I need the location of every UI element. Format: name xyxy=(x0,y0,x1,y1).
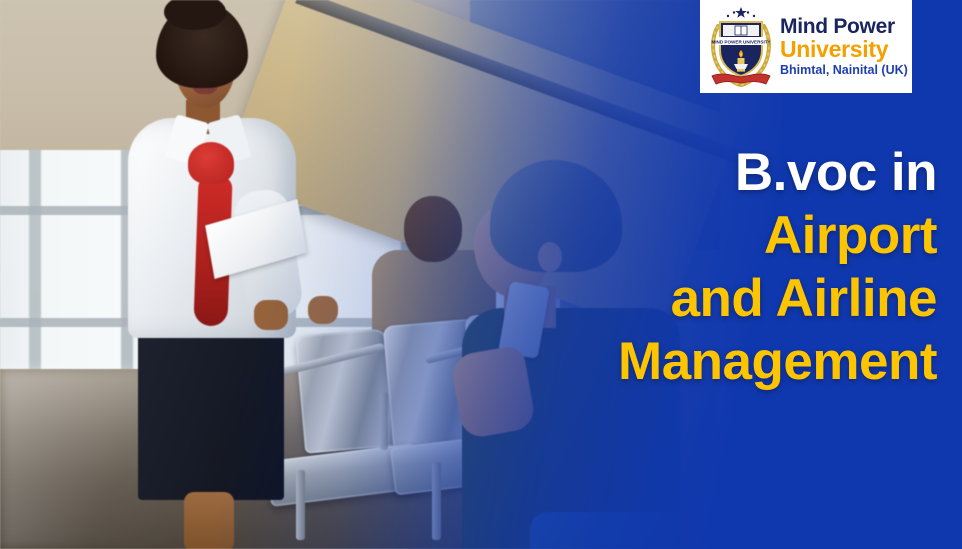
course-headline: B.voc in Airport and Airline Management xyxy=(437,146,937,389)
logo-name-line1: Mind Power xyxy=(780,16,908,37)
attendant-skirt xyxy=(138,330,284,500)
attendant-hand xyxy=(308,296,338,324)
university-logo-text: Mind Power University Bhimtal, Nainital … xyxy=(780,16,908,77)
logo-name-line2: University xyxy=(780,38,908,61)
university-crest-icon: MIND POWER UNIVERSITY xyxy=(706,6,776,88)
logo-location: Bhimtal, Nainital (UK) xyxy=(780,64,908,77)
attendant-hand xyxy=(254,300,288,330)
flight-attendant-figure xyxy=(112,0,312,549)
red-scarf-knot xyxy=(188,142,234,184)
seat-leg xyxy=(432,462,441,540)
crest-motto-text: MIND POWER UNIVERSITY xyxy=(711,39,770,44)
headline-line-3: and Airline xyxy=(437,272,937,326)
headline-line-2: Airport xyxy=(437,209,937,263)
seat-leg xyxy=(380,392,388,450)
university-logo-card[interactable]: MIND POWER UNIVERSITY Mind Power Univers… xyxy=(700,0,912,93)
promo-banner: MIND POWER UNIVERSITY Mind Power Univers… xyxy=(0,0,962,549)
attendant-leg xyxy=(184,492,234,549)
headline-line-1: B.voc in xyxy=(437,146,937,200)
headline-line-4: Management xyxy=(437,335,937,389)
woman-jeans xyxy=(530,512,682,549)
